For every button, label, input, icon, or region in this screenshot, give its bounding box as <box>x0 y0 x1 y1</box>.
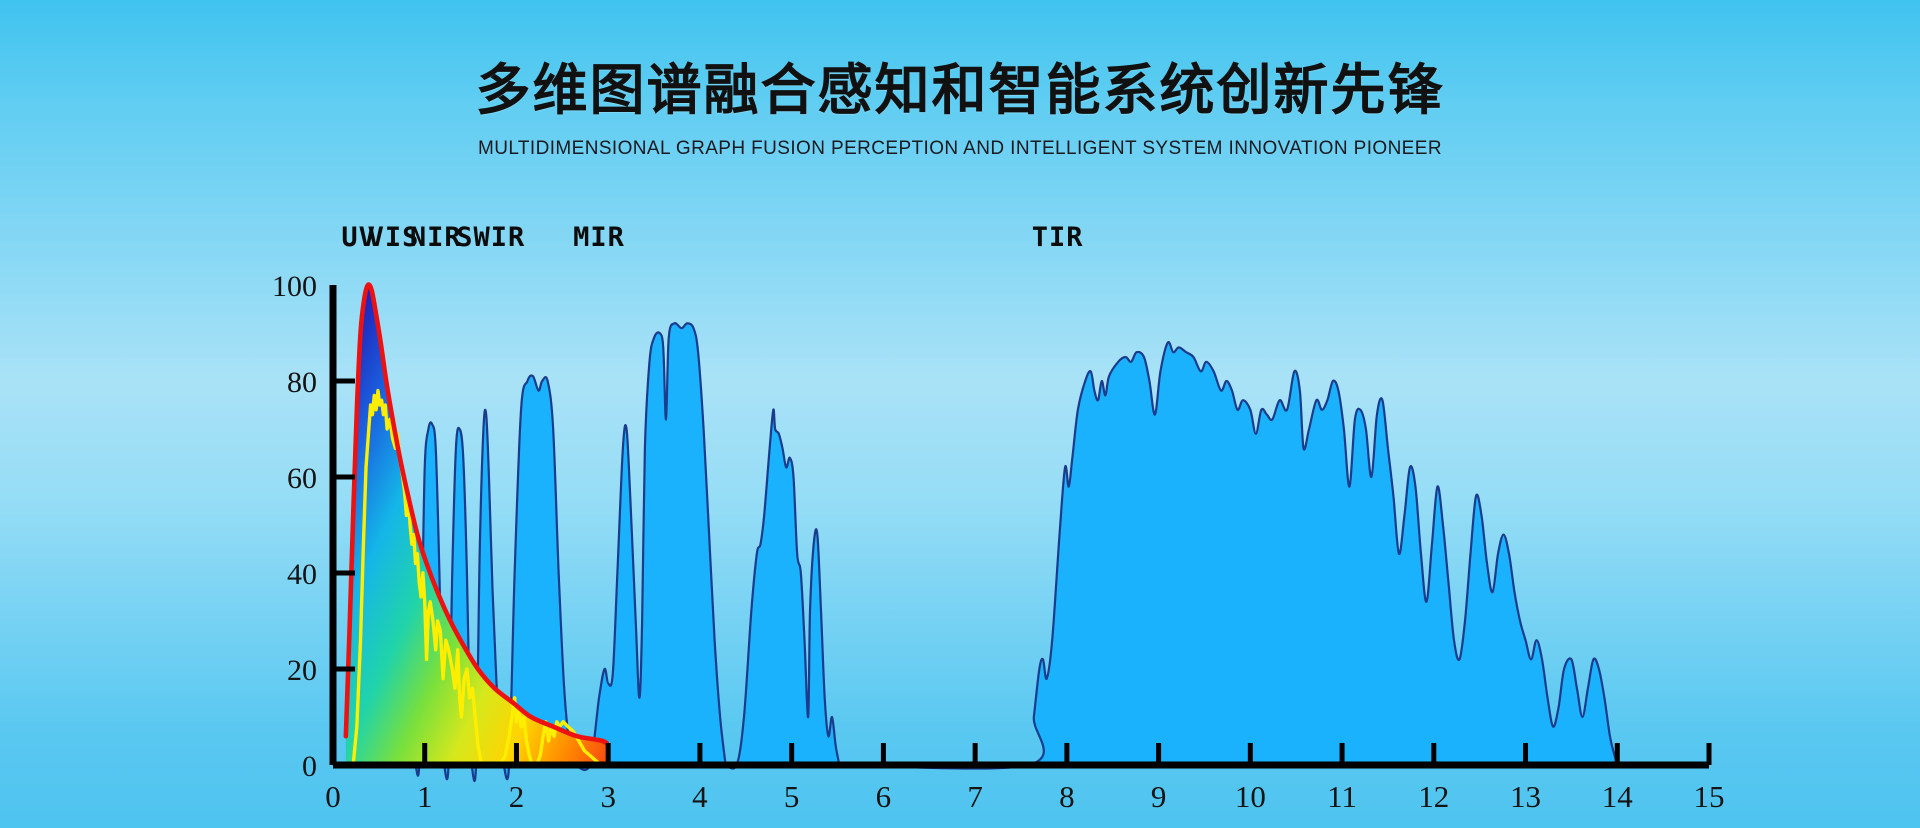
y-tick-label: 40 <box>287 558 317 591</box>
spectrum-chart: 020406080100 0123456789101112131415 <box>0 0 1920 828</box>
x-tick-label: 11 <box>1327 779 1357 814</box>
x-tick-label: 7 <box>967 779 983 814</box>
x-tick-label: 4 <box>692 779 708 814</box>
spectral-banner: 多维图谱融合感知和智能系统创新先锋 MULTIDIMENSIONAL GRAPH… <box>0 0 1920 828</box>
y-tick-label: 60 <box>287 462 317 495</box>
x-tick-label: 3 <box>600 779 616 814</box>
y-tick-label: 0 <box>302 750 317 783</box>
x-tick-label: 10 <box>1235 779 1266 814</box>
spectrum-svg: 020406080100 0123456789101112131415 <box>0 0 1920 828</box>
x-tick-label: 13 <box>1510 779 1541 814</box>
y-tick-label: 80 <box>287 366 317 399</box>
y-tick-label: 100 <box>272 270 317 303</box>
x-tick-label: 14 <box>1602 779 1634 814</box>
x-tick-label: 8 <box>1059 779 1075 814</box>
x-tick-label: 0 <box>325 779 341 814</box>
x-tick-label: 15 <box>1694 779 1725 814</box>
x-tick-label: 9 <box>1151 779 1167 814</box>
x-tick-label: 12 <box>1418 779 1449 814</box>
x-tick-label: 5 <box>784 779 800 814</box>
x-tick-label: 1 <box>417 779 433 814</box>
y-tick-label: 20 <box>287 654 317 687</box>
x-tick-label: 6 <box>876 779 892 814</box>
atmospheric-transmission-area <box>353 323 1617 781</box>
x-axis-tick-labels: 0123456789101112131415 <box>325 779 1724 814</box>
y-axis-tick-labels: 020406080100 <box>272 270 317 783</box>
x-tick-label: 2 <box>509 779 525 814</box>
